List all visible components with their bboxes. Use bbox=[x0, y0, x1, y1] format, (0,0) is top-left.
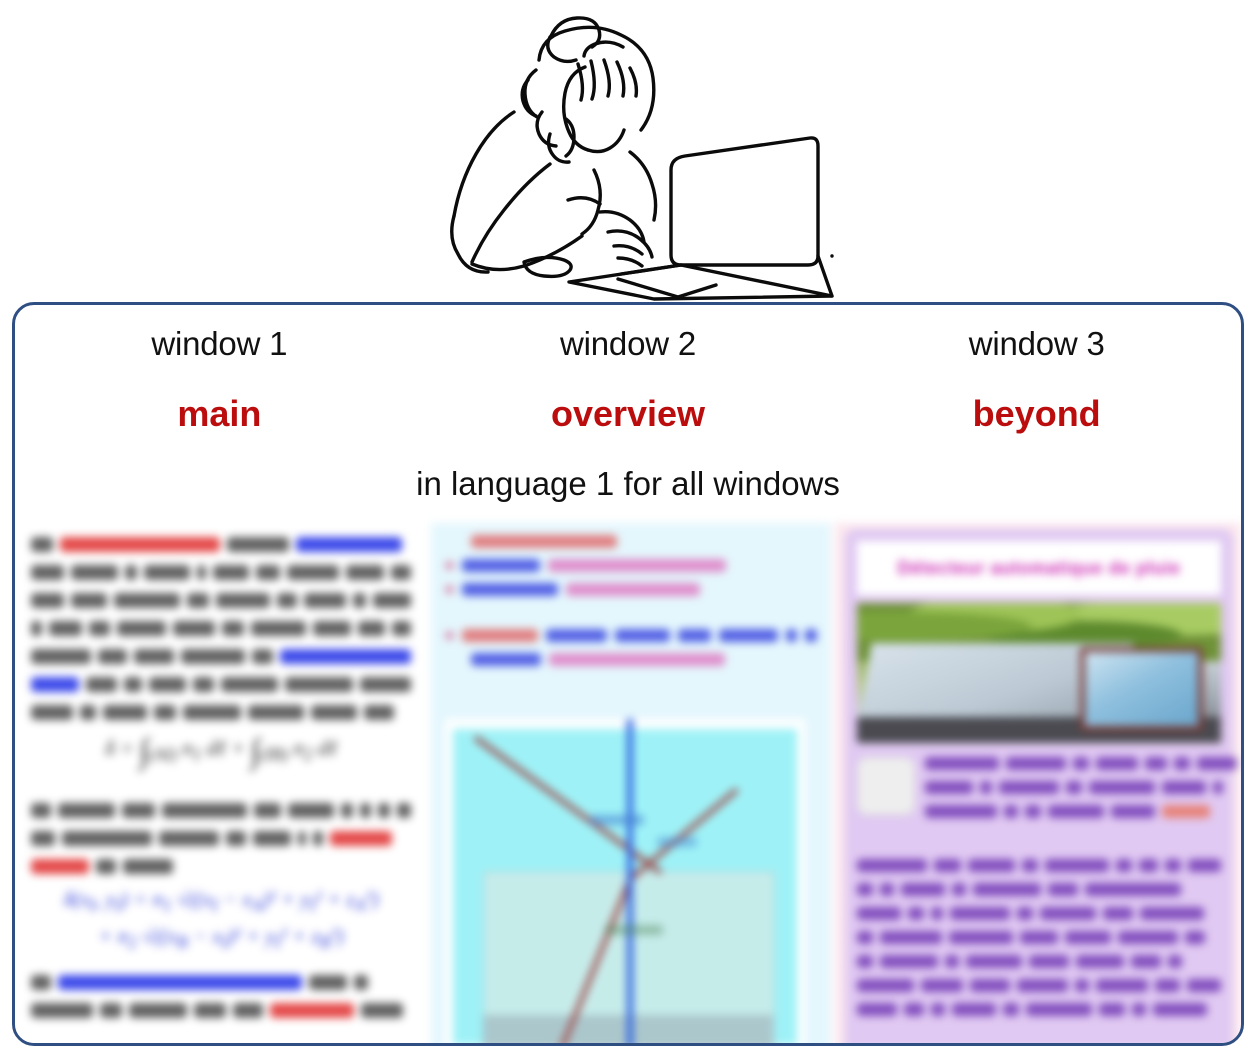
question-lines bbox=[925, 757, 1237, 829]
text-line bbox=[31, 621, 411, 636]
window-frame: window 1 window 2 window 3 main overview… bbox=[12, 302, 1244, 1046]
panel-row: δ = ∫(AI) n1 dℓ + ∫(IB) n2 dℓ bbox=[15, 523, 1241, 1046]
person-thinking-at-laptop-icon bbox=[418, 4, 858, 302]
web-page-body: Détecteur automatique de pluie bbox=[845, 529, 1233, 1046]
text-line bbox=[857, 955, 1221, 968]
overview-heading bbox=[445, 535, 817, 548]
text-line bbox=[857, 883, 1221, 896]
overview-bullet-item bbox=[445, 583, 817, 596]
text-line bbox=[31, 565, 411, 580]
panel-main-document[interactable]: δ = ∫(AI) n1 dℓ + ∫(IB) n2 dℓ bbox=[15, 523, 427, 1046]
text-line bbox=[857, 979, 1221, 992]
text-line bbox=[31, 831, 411, 846]
role-label-overview: overview bbox=[424, 393, 833, 435]
role-label-beyond: beyond bbox=[832, 393, 1241, 435]
header-block: window 1 window 2 window 3 main overview… bbox=[15, 305, 1241, 515]
bullet-dot-icon bbox=[445, 561, 454, 570]
text-line bbox=[31, 593, 411, 608]
overview-bullet-block bbox=[431, 523, 831, 666]
text-line bbox=[31, 859, 411, 874]
panel-overview-slide[interactable] bbox=[431, 523, 831, 1046]
role-label-main: main bbox=[15, 393, 424, 435]
overview-bullet-item bbox=[445, 629, 817, 642]
refraction-diagram bbox=[445, 719, 805, 1046]
text-line bbox=[857, 931, 1221, 944]
illustration-area bbox=[0, 0, 1256, 302]
overview-bullet-item bbox=[445, 653, 817, 666]
path-function-equation-2: + n2 √((xB − xI)² + yI² + zB²) bbox=[15, 924, 427, 953]
text-line bbox=[31, 677, 411, 692]
document-text-block-3 bbox=[15, 961, 427, 1018]
optical-path-equation: δ = ∫(AI) n1 dℓ + ∫(IB) n2 dℓ bbox=[15, 733, 427, 771]
language-note: in language 1 for all windows bbox=[15, 465, 1241, 503]
path-function-equation-1: δ(xI, yI) = n1 √((xI − xA)² + yI² + zA²) bbox=[15, 887, 427, 916]
text-line bbox=[925, 781, 1237, 794]
text-line bbox=[925, 757, 1237, 770]
text-line bbox=[857, 1003, 1221, 1016]
window-label-3: window 3 bbox=[832, 325, 1241, 363]
window-label-row: window 1 window 2 window 3 bbox=[15, 325, 1241, 363]
web-page-title: Détecteur automatique de pluie bbox=[897, 558, 1180, 579]
photo-inset-display bbox=[1080, 647, 1203, 731]
activity-badge-icon bbox=[857, 757, 915, 815]
bullet-dot-icon bbox=[445, 585, 454, 594]
angle-label-reflection bbox=[657, 837, 697, 847]
text-line bbox=[31, 705, 411, 720]
angle-label-refraction bbox=[605, 925, 663, 935]
window-label-1: window 1 bbox=[15, 325, 424, 363]
text-line bbox=[31, 537, 411, 552]
text-line bbox=[857, 859, 1221, 872]
overview-bullet-item bbox=[445, 559, 817, 572]
web-page-title-bar: Détecteur automatique de pluie bbox=[857, 541, 1221, 595]
window-label-2: window 2 bbox=[424, 325, 833, 363]
role-label-row: main overview beyond bbox=[15, 393, 1241, 435]
question-block bbox=[857, 757, 1221, 829]
windscreen-photo bbox=[857, 603, 1221, 743]
angle-label-incidence bbox=[590, 815, 644, 825]
document-text-block bbox=[15, 523, 427, 720]
text-line bbox=[31, 803, 411, 818]
panel-beyond-webpage[interactable]: Détecteur automatique de pluie bbox=[835, 523, 1241, 1046]
text-line bbox=[31, 1003, 411, 1018]
text-line bbox=[925, 805, 1237, 818]
text-line bbox=[857, 907, 1221, 920]
text-line bbox=[31, 975, 411, 990]
document-text-block-2 bbox=[15, 789, 427, 874]
web-page-text bbox=[857, 743, 1221, 1016]
normal-line bbox=[627, 719, 633, 1046]
text-line bbox=[31, 649, 411, 664]
bullet-dot-icon bbox=[445, 631, 454, 640]
